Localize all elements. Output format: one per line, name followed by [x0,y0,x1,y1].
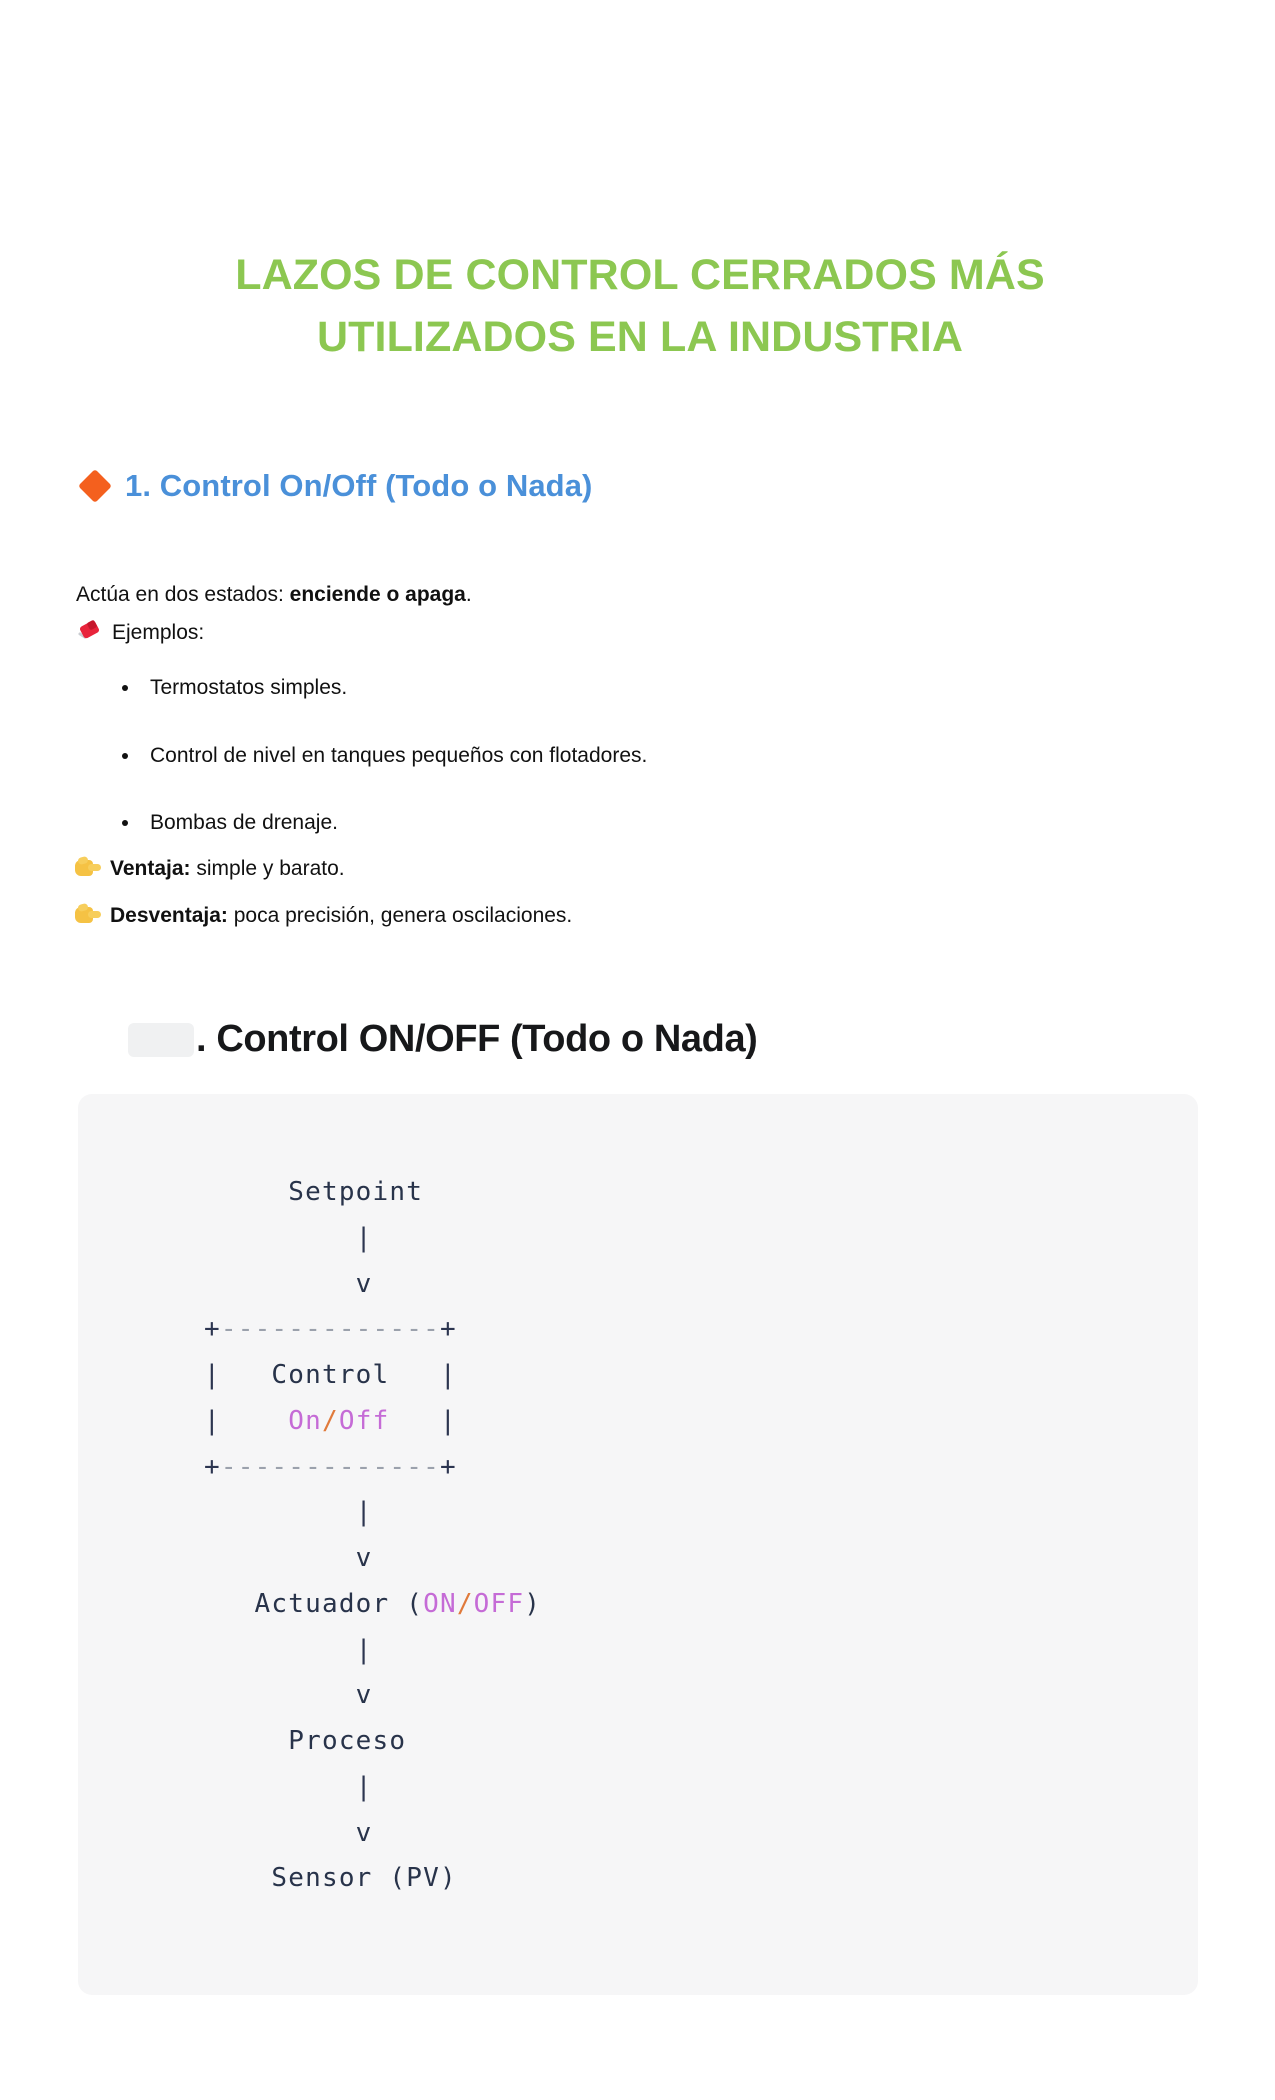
document-page: LAZOS DE CONTROL CERRADOS MÁS UTILIZADOS… [0,0,1275,2100]
advantage-line: Ventaja: simple y barato. [74,854,345,884]
intro-suffix: . [466,583,472,606]
disadvantage-line: Desventaja: poca precisión, genera oscil… [74,901,572,931]
list-item: Bombas de drenaje. [112,807,647,839]
pointing-hand-icon [74,855,101,880]
examples-heading: Ejemplos: [76,617,204,649]
list-item: Control de nivel en tanques pequeños con… [112,740,647,772]
page-title: LAZOS DE CONTROL CERRADOS MÁS UTILIZADOS… [120,244,1160,369]
ascii-flow-diagram: Setpoint | v +-------------+ | Control |… [204,1170,541,1902]
pointing-hand-icon [74,902,101,927]
section-heading: 1. Control On/Off (Todo o Nada) [78,468,592,504]
pushpin-icon [76,620,102,646]
list-item: Termostatos simples. [112,672,647,704]
intro-prefix: Actúa en dos estados: [76,583,290,606]
diagram-panel: Setpoint | v +-------------+ | Control |… [78,1094,1198,1995]
section-heading-label: 1. Control On/Off (Todo o Nada) [125,468,592,504]
figure-caption: . Control ON/OFF (Todo o Nada) [128,1018,757,1061]
disadvantage-label: Desventaja: [110,904,228,927]
figure-caption-label: . Control ON/OFF (Todo o Nada) [196,1018,757,1061]
page-title-line-1: LAZOS DE CONTROL CERRADOS MÁS [120,244,1160,306]
redacted-number-block [128,1023,194,1057]
examples-heading-label: Ejemplos: [112,617,204,649]
examples-list: Termostatos simples. Control de nivel en… [112,672,647,875]
advantage-label: Ventaja: [110,857,191,880]
intro-paragraph: Actúa en dos estados: enciende o apaga. [76,579,472,611]
intro-bold: enciende o apaga [290,583,466,606]
page-title-line-2: UTILIZADOS EN LA INDUSTRIA [120,306,1160,368]
disadvantage-text: poca precisión, genera oscilaciones. [228,904,572,927]
orange-diamond-icon [78,469,112,503]
advantage-text: simple y barato. [191,857,345,880]
